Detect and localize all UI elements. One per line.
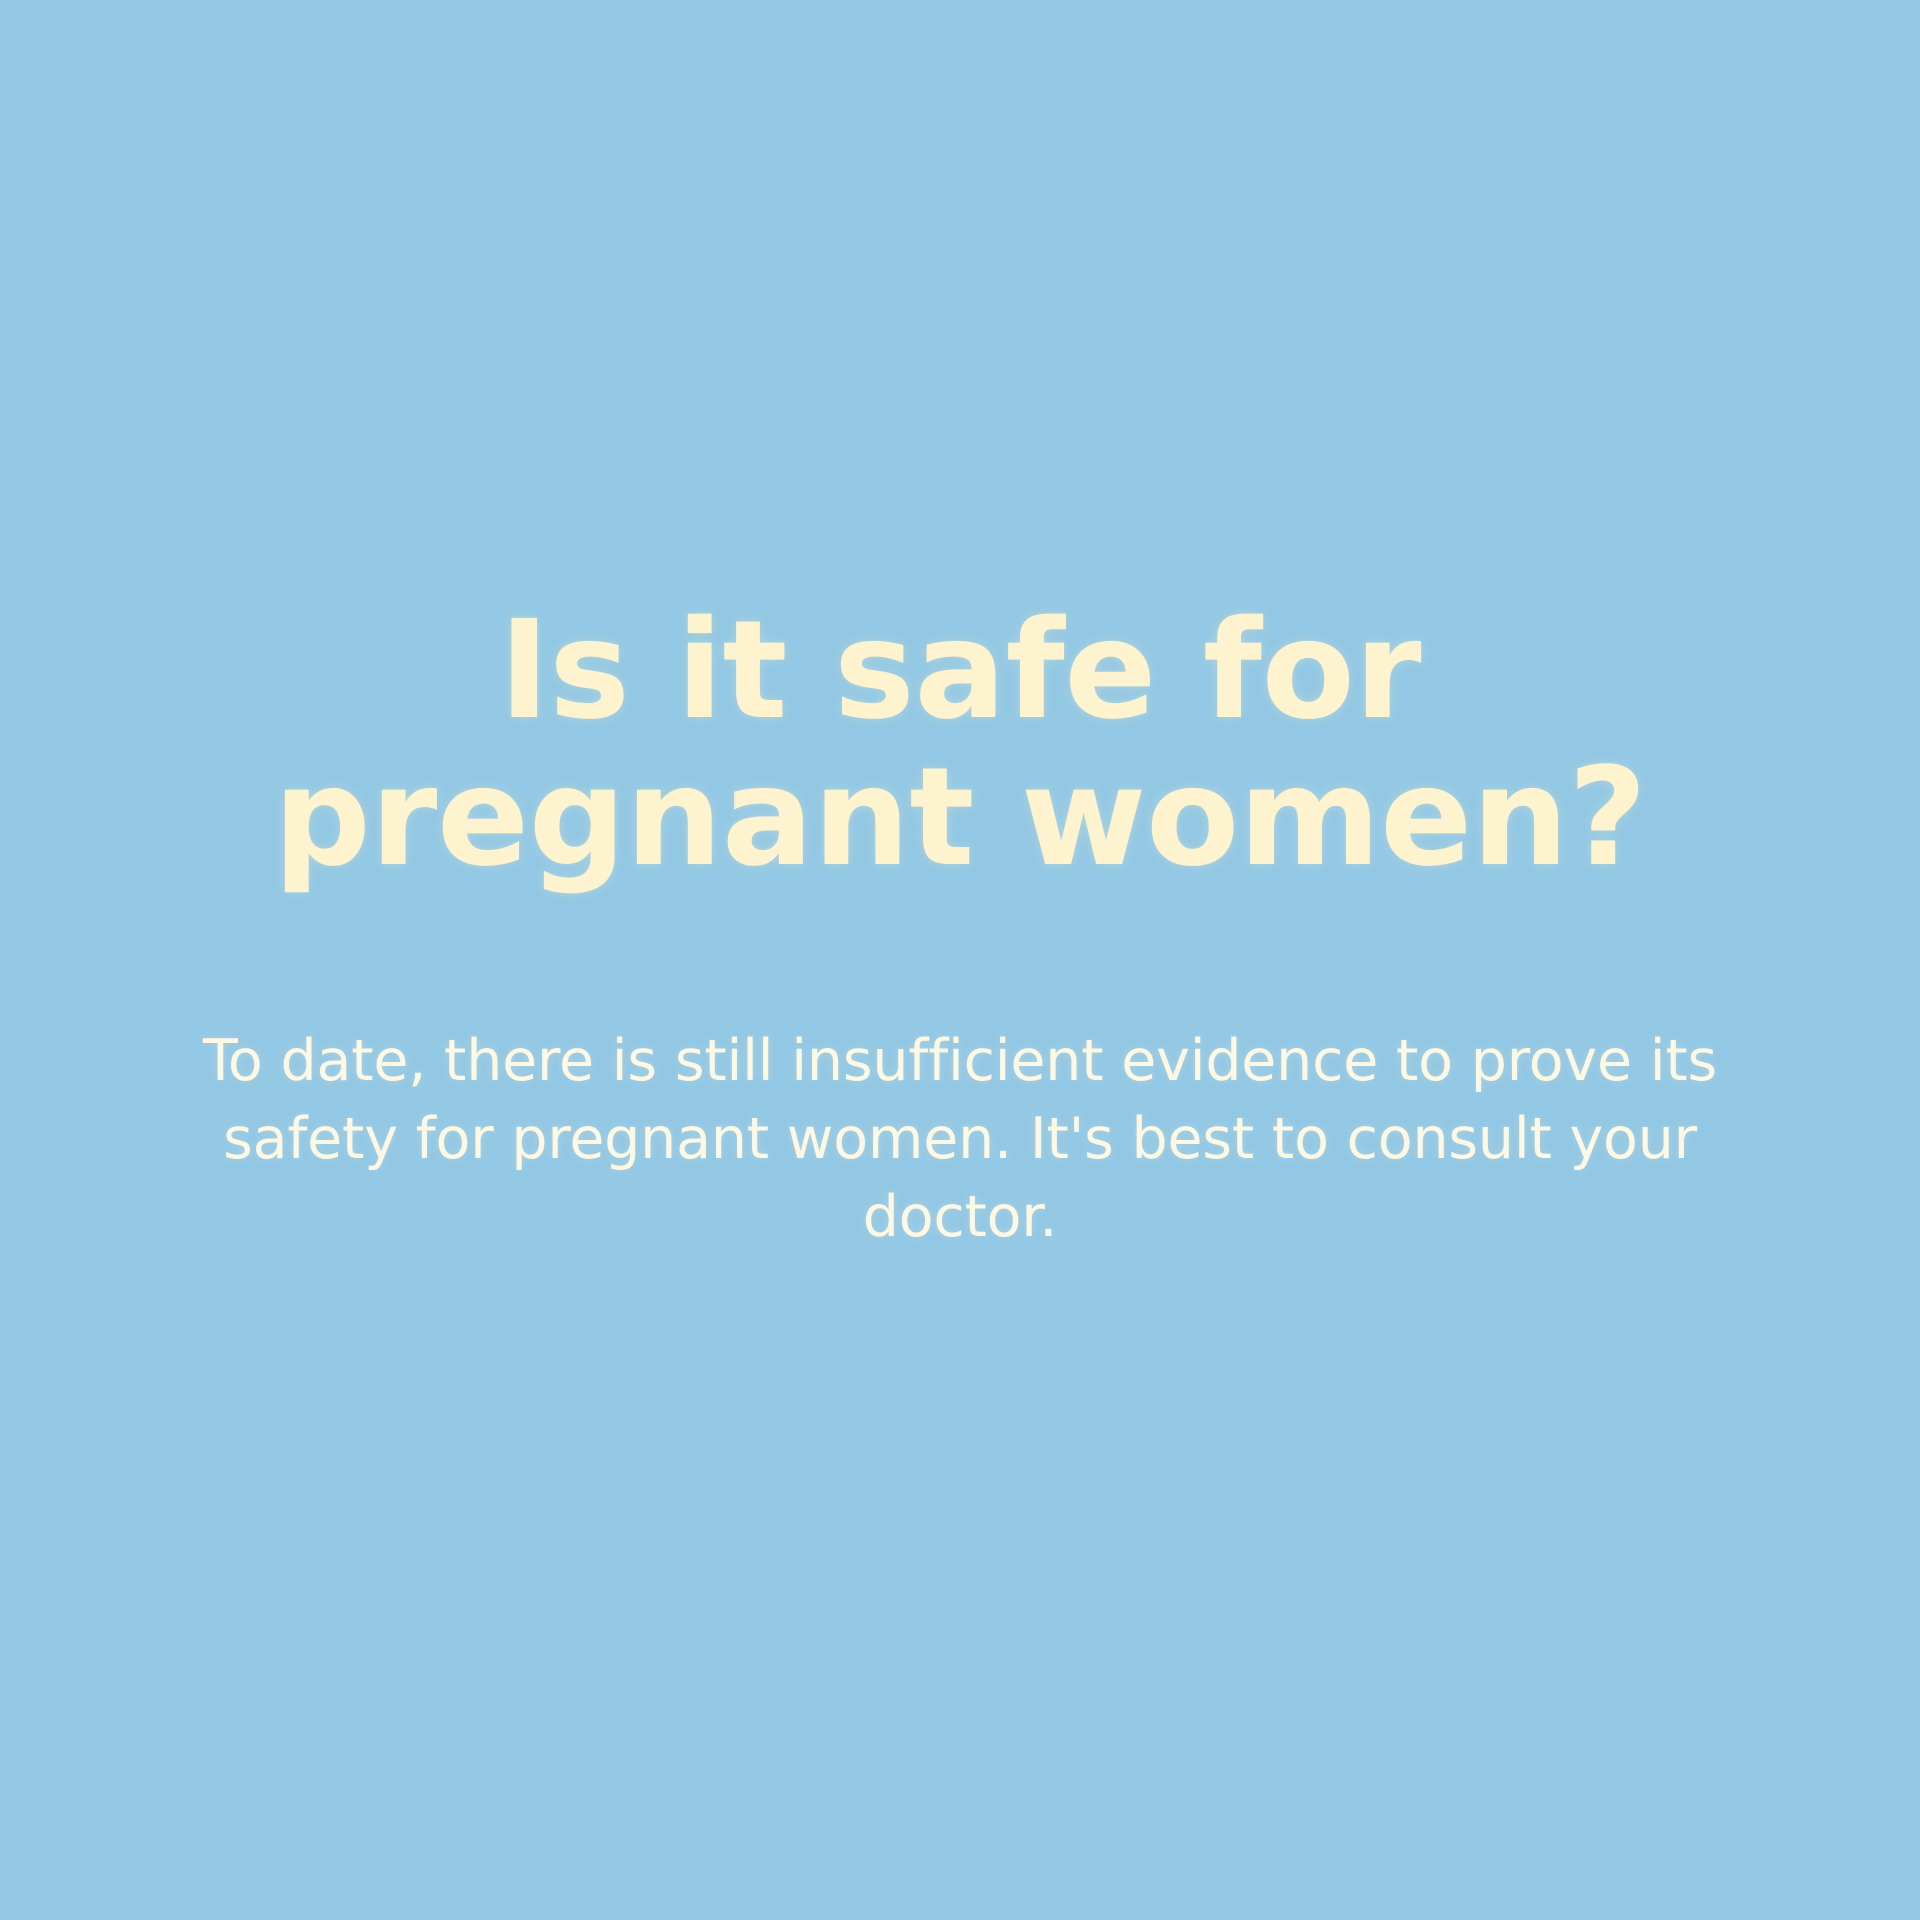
page-title: Is it safe for pregnant women? xyxy=(190,598,1730,892)
slide-canvas: Is it safe for pregnant women? To date, … xyxy=(0,0,1920,1920)
body-paragraph: To date, there is still insufficient evi… xyxy=(150,1022,1770,1256)
